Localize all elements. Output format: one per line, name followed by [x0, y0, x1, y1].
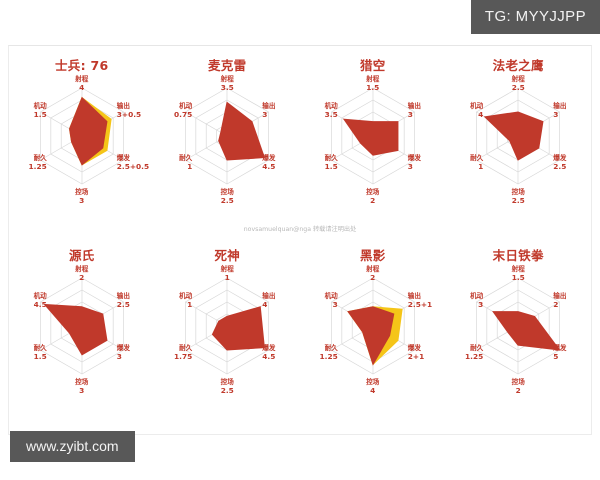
radar-axis-value: 1 — [221, 273, 234, 282]
radar-axis-label: 射程3.5 — [221, 75, 234, 92]
radar-axis-name: 射程 — [75, 265, 88, 273]
radar-axis-value: 1.25 — [320, 352, 338, 361]
site-watermark: www.zyibt.com — [10, 431, 135, 462]
radar-plot: 射程3.5输出3爆发4.5控场2.5耐久1机动0.75 — [161, 76, 293, 222]
radar-axis-name: 输出 — [553, 102, 566, 110]
radar-axis-label: 输出3 — [408, 102, 421, 119]
radar-axis-label: 爆发3 — [408, 154, 421, 171]
radar-axis-value: 2.5 — [512, 196, 525, 205]
radar-axis-value: 2 — [366, 273, 379, 282]
radar-axis-name: 爆发 — [408, 344, 421, 352]
radar-axis-label: 爆发2+1 — [408, 344, 424, 361]
radar-chart-cell: 黑影射程2输出2.5+1爆发2+1控场4耐久1.25机动3 — [300, 236, 446, 426]
radar-chart-cell: 末日铁拳射程1.5输出2爆发5控场2耐久1.25机动3 — [446, 236, 592, 426]
radar-axis-value: 3 — [325, 300, 338, 309]
radar-axis-label: 爆发2.5+0.5 — [117, 154, 149, 171]
radar-value-area — [485, 112, 543, 160]
radar-axis-name: 输出 — [262, 292, 275, 300]
radar-axis-value: 3.5 — [325, 110, 338, 119]
radar-axis-value: 1.25 — [29, 162, 47, 171]
radar-axis-value: 2.5+1 — [408, 300, 432, 309]
telegram-watermark: TG: MYYJJPP — [471, 0, 600, 34]
radar-axis-label: 输出3 — [553, 102, 566, 119]
radar-plot: 射程1输出4爆发4.5控场2.5耐久1.75机动1 — [161, 266, 293, 412]
radar-axis-value: 3 — [75, 386, 88, 395]
radar-axis-value: 1 — [470, 162, 483, 171]
nga-attribution-note: novsamuelquan@nga 转载请注明出处 — [9, 224, 591, 233]
radar-chart-cell: 麦克雷射程3.5输出3爆发4.5控场2.5耐久1机动0.75 — [155, 46, 301, 236]
radar-axis-value: 1.5 — [325, 162, 338, 171]
radar-axis-value: 4.5 — [262, 162, 275, 171]
radar-axis-label: 控场2 — [512, 378, 525, 395]
radar-axis-label: 耐久1.5 — [34, 344, 47, 361]
chart-title: 源氏 — [9, 245, 155, 264]
chart-title: 黑影 — [300, 245, 446, 264]
radar-chart-grid: 士兵: 76射程4输出3+0.5爆发2.5+0.5控场3耐久1.25机动1.5麦… — [9, 46, 591, 426]
radar-axis-label: 机动4 — [470, 102, 483, 119]
radar-axis-label: 爆发3 — [117, 344, 130, 361]
radar-axis-value: 2 — [512, 386, 525, 395]
radar-axis-value: 4 — [75, 83, 88, 92]
radar-axis-label: 射程2.5 — [512, 75, 525, 92]
radar-axis-name: 控场 — [366, 378, 379, 386]
radar-axis-label: 射程1.5 — [512, 265, 525, 282]
radar-axis-name: 控场 — [512, 378, 525, 386]
radar-axis-label: 耐久1.25 — [29, 154, 47, 171]
chart-title: 末日铁拳 — [446, 245, 592, 264]
radar-value-area — [69, 98, 106, 165]
charts-card: 士兵: 76射程4输出3+0.5爆发2.5+0.5控场3耐久1.25机动1.5麦… — [8, 45, 592, 435]
radar-axis-label: 射程1 — [221, 265, 234, 282]
radar-axis-name: 控场 — [75, 378, 88, 386]
radar-plot: 射程2输出2.5爆发3控场3耐久1.5机动4.5 — [16, 266, 148, 412]
radar-axis-label: 控场2.5 — [221, 378, 234, 395]
radar-axis-name: 机动 — [325, 102, 338, 110]
radar-axis-label: 耐久1.75 — [174, 344, 192, 361]
radar-axis-value: 3 — [408, 110, 421, 119]
radar-axis-label: 射程2 — [75, 265, 88, 282]
radar-axis-name: 射程 — [512, 75, 525, 83]
radar-axis-value: 1 — [179, 300, 192, 309]
radar-plot: 射程1.5输出2爆发5控场2耐久1.25机动3 — [452, 266, 584, 412]
radar-plot: 射程1.5输出3爆发3控场2耐久1.5机动3.5 — [307, 76, 439, 222]
radar-value-area — [493, 312, 560, 350]
radar-axis-name: 控场 — [512, 188, 525, 196]
radar-axis-value: 3 — [75, 196, 88, 205]
radar-axis-name: 耐久 — [34, 154, 47, 162]
radar-axis-name: 耐久 — [325, 154, 338, 162]
chart-title: 士兵: 76 — [9, 55, 155, 74]
radar-axis-value: 1.5 — [366, 83, 379, 92]
chart-title: 死神 — [155, 245, 301, 264]
radar-axis-name: 爆发 — [553, 154, 566, 162]
radar-axis-value: 0.75 — [174, 110, 192, 119]
radar-value-area — [219, 102, 265, 160]
radar-axis-label: 爆发4.5 — [262, 154, 275, 171]
radar-axis-label: 射程4 — [75, 75, 88, 92]
radar-value-area — [213, 307, 265, 350]
radar-axis-label: 机动1.5 — [34, 102, 47, 119]
radar-axis-value: 4.5 — [262, 352, 275, 361]
radar-axis-label: 控场2.5 — [221, 188, 234, 205]
radar-axis-value: 2 — [75, 273, 88, 282]
radar-chart-cell: 士兵: 76射程4输出3+0.5爆发2.5+0.5控场3耐久1.25机动1.5 — [9, 46, 155, 236]
radar-axis-name: 爆发 — [117, 154, 130, 162]
radar-axis-name: 耐久 — [179, 344, 192, 352]
radar-axis-label: 机动3 — [470, 292, 483, 309]
radar-axis-name: 输出 — [408, 102, 421, 110]
radar-axis-label: 耐久1.5 — [325, 154, 338, 171]
radar-axis-value: 3.5 — [221, 83, 234, 92]
radar-axis-label: 耐久1 — [470, 154, 483, 171]
radar-axis-name: 耐久 — [470, 344, 483, 352]
radar-axis-label: 耐久1.25 — [320, 344, 338, 361]
radar-axis-name: 机动 — [179, 292, 192, 300]
radar-axis-name: 耐久 — [34, 344, 47, 352]
radar-axis-label: 射程1.5 — [366, 75, 379, 92]
radar-axis-name: 爆发 — [262, 344, 275, 352]
radar-axis-label: 输出2.5+1 — [408, 292, 432, 309]
radar-axis-label: 机动3.5 — [325, 102, 338, 119]
radar-axis-name: 机动 — [34, 102, 47, 110]
radar-plot: 射程2输出2.5+1爆发2+1控场4耐久1.25机动3 — [307, 266, 439, 412]
radar-axis-label: 耐久1 — [179, 154, 192, 171]
radar-axis-label: 机动3 — [325, 292, 338, 309]
radar-value-area — [348, 307, 394, 365]
radar-axis-label: 输出3+0.5 — [117, 102, 141, 119]
radar-axis-label: 机动4.5 — [34, 292, 47, 309]
radar-plot: 射程4输出3+0.5爆发2.5+0.5控场3耐久1.25机动1.5 — [16, 76, 148, 222]
radar-axis-name: 输出 — [553, 292, 566, 300]
radar-axis-value: 1.75 — [174, 352, 192, 361]
radar-plot: 射程2.5输出3爆发2.5控场2.5耐久1机动4 — [452, 76, 584, 222]
radar-axis-value: 2 — [366, 196, 379, 205]
chart-title: 法老之鹰 — [446, 55, 592, 74]
radar-axis-value: 2.5 — [221, 196, 234, 205]
radar-axis-value: 3 — [553, 110, 566, 119]
radar-axis-name: 射程 — [512, 265, 525, 273]
radar-axis-label: 控场2 — [366, 188, 379, 205]
radar-axis-value: 4.5 — [34, 300, 47, 309]
radar-axis-value: 2.5 — [553, 162, 566, 171]
chart-title: 猎空 — [300, 55, 446, 74]
radar-value-area — [44, 304, 106, 354]
radar-axis-name: 爆发 — [408, 154, 421, 162]
radar-axis-name: 输出 — [408, 292, 421, 300]
radar-axis-label: 机动0.75 — [174, 102, 192, 119]
radar-axis-value: 4 — [470, 110, 483, 119]
radar-axis-name: 控场 — [221, 378, 234, 386]
radar-axis-label: 输出2 — [553, 292, 566, 309]
radar-axis-value: 3 — [408, 162, 421, 171]
radar-chart-cell: 源氏射程2输出2.5爆发3控场3耐久1.5机动4.5 — [9, 236, 155, 426]
radar-axis-value: 2.5+0.5 — [117, 162, 149, 171]
chart-title: 麦克雷 — [155, 55, 301, 74]
radar-axis-value: 1.5 — [512, 273, 525, 282]
radar-axis-value: 3 — [117, 352, 130, 361]
radar-axis-label: 爆发4.5 — [262, 344, 275, 361]
radar-axis-name: 耐久 — [325, 344, 338, 352]
radar-axis-value: 2.5 — [512, 83, 525, 92]
radar-axis-value: 3+0.5 — [117, 110, 141, 119]
radar-axis-name: 机动 — [325, 292, 338, 300]
radar-axis-value: 5 — [553, 352, 566, 361]
radar-axis-value: 1 — [179, 162, 192, 171]
radar-axis-label: 机动1 — [179, 292, 192, 309]
radar-axis-name: 输出 — [262, 102, 275, 110]
radar-axis-value: 2 — [553, 300, 566, 309]
radar-axis-label: 爆发5 — [553, 344, 566, 361]
radar-axis-label: 爆发2.5 — [553, 154, 566, 171]
radar-axis-name: 射程 — [221, 75, 234, 83]
radar-axis-value: 1.25 — [465, 352, 483, 361]
radar-axis-label: 控场3 — [75, 378, 88, 395]
radar-axis-name: 射程 — [221, 265, 234, 273]
radar-axis-label: 输出2.5 — [117, 292, 130, 309]
radar-axis-value: 2.5 — [221, 386, 234, 395]
radar-axis-name: 输出 — [117, 102, 130, 110]
radar-axis-label: 控场2.5 — [512, 188, 525, 205]
radar-axis-value: 4 — [262, 300, 275, 309]
radar-axis-name: 耐久 — [470, 154, 483, 162]
radar-axis-value: 2+1 — [408, 352, 424, 361]
radar-axis-value: 1.5 — [34, 110, 47, 119]
radar-axis-value: 3 — [262, 110, 275, 119]
radar-axis-label: 控场3 — [75, 188, 88, 205]
radar-axis-name: 耐久 — [179, 154, 192, 162]
radar-axis-name: 爆发 — [553, 344, 566, 352]
radar-axis-name: 控场 — [221, 188, 234, 196]
radar-axis-name: 射程 — [75, 75, 88, 83]
radar-axis-label: 输出4 — [262, 292, 275, 309]
radar-axis-label: 控场4 — [366, 378, 379, 395]
radar-axis-label: 射程2 — [366, 265, 379, 282]
radar-axis-label: 输出3 — [262, 102, 275, 119]
radar-axis-name: 控场 — [366, 188, 379, 196]
radar-axis-label: 耐久1.25 — [465, 344, 483, 361]
radar-axis-value: 4 — [366, 386, 379, 395]
radar-axis-name: 机动 — [470, 102, 483, 110]
radar-axis-name: 机动 — [34, 292, 47, 300]
radar-chart-cell: 法老之鹰射程2.5输出3爆发2.5控场2.5耐久1机动4 — [446, 46, 592, 236]
radar-axis-name: 控场 — [75, 188, 88, 196]
radar-axis-name: 机动 — [470, 292, 483, 300]
radar-axis-value: 1.5 — [34, 352, 47, 361]
radar-axis-value: 3 — [470, 300, 483, 309]
radar-axis-name: 爆发 — [117, 344, 130, 352]
radar-axis-name: 输出 — [117, 292, 130, 300]
radar-chart-cell: 猎空射程1.5输出3爆发3控场2耐久1.5机动3.5 — [300, 46, 446, 236]
radar-axis-name: 射程 — [366, 265, 379, 273]
radar-axis-name: 机动 — [179, 102, 192, 110]
radar-chart-cell: 死神射程1输出4爆发4.5控场2.5耐久1.75机动1 — [155, 236, 301, 426]
radar-axis-name: 射程 — [366, 75, 379, 83]
radar-axis-value: 2.5 — [117, 300, 130, 309]
radar-axis-name: 爆发 — [262, 154, 275, 162]
